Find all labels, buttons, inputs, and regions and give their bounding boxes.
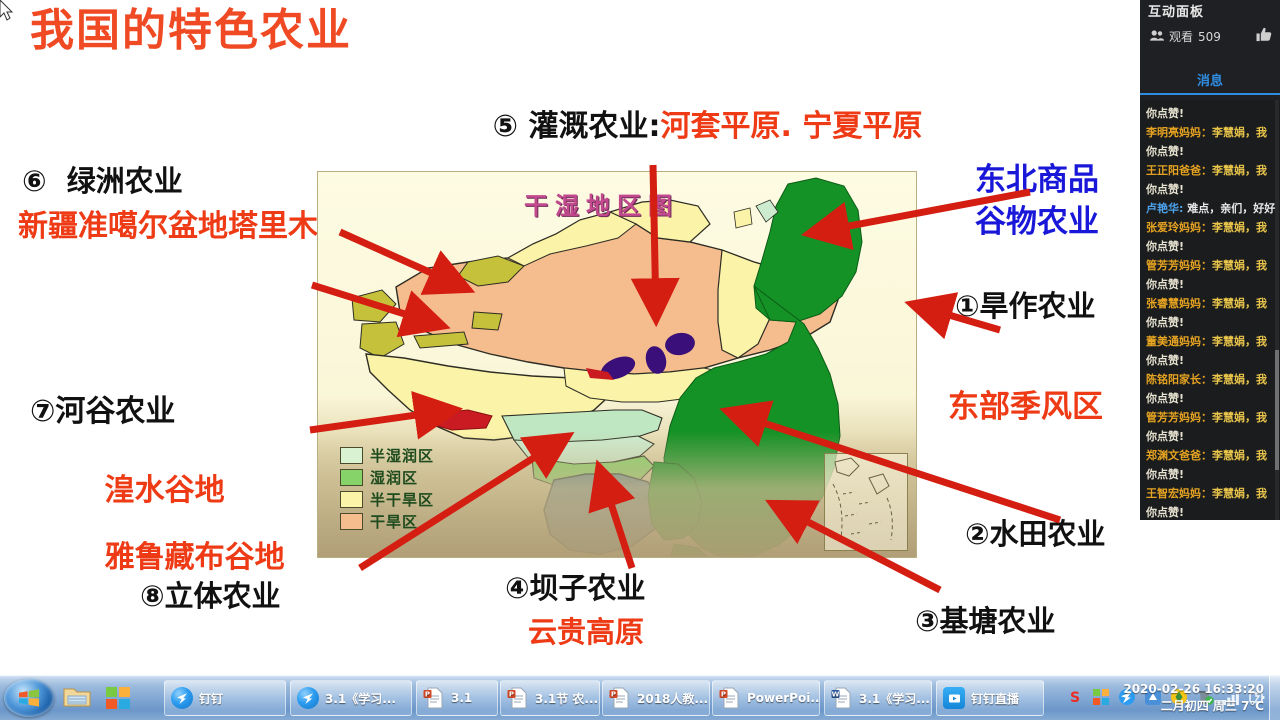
chat-message-sender: 王智宏妈妈： bbox=[1146, 487, 1212, 500]
annotation-dike-pond-agriculture: ③基塘农业 bbox=[915, 605, 1056, 637]
annotation-dry-farming: ①旱作农业 bbox=[955, 290, 1096, 322]
annotation-bazi-agriculture-body: 云贵高原 bbox=[528, 616, 644, 648]
taskbar-button-ppt-2[interactable]: P 3.1节 农... bbox=[500, 680, 600, 716]
taskbar-button-dingtalk[interactable]: 钉钉 bbox=[164, 680, 286, 716]
chat-like-notice: 你点赞! bbox=[1146, 465, 1280, 484]
chat-like-notice: 你点赞! bbox=[1146, 351, 1280, 370]
annotation-bazi-agriculture-head: ④坝子农业 bbox=[505, 572, 646, 604]
windows-start-icon[interactable] bbox=[4, 679, 54, 717]
svg-text:P: P bbox=[611, 691, 616, 699]
chat-message: 郑渊文爸爸：李慧娟，我 bbox=[1146, 446, 1280, 465]
taskbar-button-label: 3.1《学习... bbox=[325, 690, 396, 707]
panel-title: 互动面板 bbox=[1148, 1, 1204, 20]
live-interaction-panel: 互动面板 观看 509 消息 你点赞!李明亮妈妈：李慧娟，我你点赞!王正阳爸爸：… bbox=[1140, 0, 1280, 676]
map-inset-south-sea bbox=[824, 453, 908, 551]
china-dry-wet-regions-map: 干湿地区图 半湿润区 湿润区 半干旱区 干旱区 bbox=[318, 172, 916, 557]
chat-message-sender: 张睿慧妈妈： bbox=[1146, 297, 1212, 310]
annotation-east-monsoon-region: 东部季风区 bbox=[948, 390, 1103, 425]
chat-message-sender: 卢艳华: bbox=[1146, 202, 1183, 215]
chat-like-notice: 你点赞! bbox=[1146, 142, 1280, 161]
word-icon: W bbox=[831, 687, 853, 709]
annotation-7-body-line1: 湟水谷地 bbox=[105, 473, 225, 508]
taskbar-button-label: PowerPoi... bbox=[747, 691, 820, 705]
chat-message-sender: 王正阳爸爸： bbox=[1146, 164, 1212, 177]
map-title: 干湿地区图 bbox=[524, 186, 679, 221]
svg-text:S: S bbox=[1070, 690, 1080, 706]
legend-swatch-semi-humid bbox=[340, 447, 363, 464]
chat-like-notice: 你点赞! bbox=[1146, 389, 1280, 408]
chat-message-sender: 董美通妈妈： bbox=[1146, 335, 1212, 348]
chat-panel-bottom-area bbox=[1140, 520, 1280, 676]
chat-message-body: 李慧娟，我 bbox=[1212, 449, 1267, 462]
chat-message-body: 李慧娟，我 bbox=[1212, 126, 1267, 139]
taskbar-clock[interactable]: 2020-02-26 16:33:20 二月初四 周三 7℃ bbox=[1123, 681, 1264, 715]
taskbar-button-ppt-3[interactable]: P 2018人教... bbox=[602, 680, 710, 716]
svg-text:P: P bbox=[721, 691, 726, 699]
legend-label-humid: 湿润区 bbox=[370, 467, 418, 488]
svg-text:P: P bbox=[509, 691, 514, 699]
powerpoint-icon: P bbox=[507, 687, 529, 709]
chat-message-body: 李慧娟，我 bbox=[1212, 297, 1267, 310]
chat-like-notice: 你点赞! bbox=[1146, 275, 1280, 294]
powerpoint-icon: P bbox=[423, 687, 445, 709]
legend-swatch-humid bbox=[340, 469, 363, 486]
show-desktop-button[interactable] bbox=[1269, 676, 1280, 720]
screen: 我国的特色农业 ⑤ 灌溉农业:河套平原. 宁夏平原 . 河西走廊. ⑥ 绿洲农业… bbox=[0, 0, 1280, 720]
legend-label-semi-humid: 半湿润区 bbox=[370, 445, 434, 466]
legend-swatch-arid bbox=[340, 513, 363, 530]
chat-like-notice: 你点赞! bbox=[1146, 104, 1280, 123]
powerpoint-icon: P bbox=[719, 687, 741, 709]
legend-item: 干旱区 bbox=[340, 510, 434, 532]
dingtalk-icon bbox=[297, 687, 319, 709]
chat-message: 王正阳爸爸：李慧娟，我 bbox=[1146, 161, 1280, 180]
clock-date-time: 2020-02-26 16:33:20 bbox=[1123, 681, 1264, 698]
chat-message: 王智宏妈妈：李慧娟，我 bbox=[1146, 484, 1280, 503]
chat-message: 张爱玲妈妈：李慧娟，我 bbox=[1146, 218, 1280, 237]
chat-message-body: 难点，亲们，好好 bbox=[1183, 202, 1275, 215]
taskbar-button-ppt-1[interactable]: P 3.1 bbox=[416, 680, 498, 716]
annotation-valley-agriculture-head: ⑦河谷农业 bbox=[30, 395, 175, 429]
taskbar-button-study-dingtalk[interactable]: 3.1《学习... bbox=[290, 680, 412, 716]
sogou-input-icon[interactable]: S bbox=[1066, 688, 1084, 706]
chat-message: 管芳芳妈妈：李慧娟，我 bbox=[1146, 408, 1280, 427]
chat-message-body: 李慧娟，我 bbox=[1212, 335, 1267, 348]
folder-explorer-icon[interactable] bbox=[62, 684, 92, 712]
presentation-slide: 我国的特色农业 ⑤ 灌溉农业:河套平原. 宁夏平原 . 河西走廊. ⑥ 绿洲农业… bbox=[0, 0, 1280, 676]
svg-text:P: P bbox=[425, 691, 430, 699]
chat-message: 李明亮妈妈：李慧娟，我 bbox=[1146, 123, 1280, 142]
clock-lunar-weather: 二月初四 周三 7℃ bbox=[1123, 698, 1264, 715]
chat-scrollbar-thumb[interactable] bbox=[1275, 350, 1279, 470]
taskbar-button-word[interactable]: W 3.1《学习... bbox=[824, 680, 932, 716]
taskbar-button-label: 2018人教... bbox=[637, 690, 708, 707]
chat-message-sender: 李明亮妈妈： bbox=[1146, 126, 1212, 139]
windows-tiles-icon[interactable] bbox=[104, 684, 134, 712]
svg-text:W: W bbox=[832, 691, 840, 699]
chat-message-body: 李慧娟，我 bbox=[1212, 259, 1267, 272]
legend-item: 半湿润区 bbox=[340, 444, 434, 466]
windows-taskbar: 钉钉 3.1《学习... P 3.1 bbox=[0, 675, 1280, 720]
chat-like-notice: 你点赞! bbox=[1146, 237, 1280, 256]
mouse-cursor bbox=[0, 0, 12, 20]
chat-message-body: 李慧娟，我 bbox=[1212, 411, 1267, 424]
taskbar-button-label: 3.1《学习... bbox=[859, 690, 930, 707]
chat-like-notice: 你点赞! bbox=[1146, 180, 1280, 199]
annotation-northeast-commercial-grain: 东北商品 谷物农业 bbox=[975, 160, 1099, 244]
taskbar-button-powerpoint[interactable]: P PowerPoi... bbox=[712, 680, 820, 716]
legend-label-arid: 干旱区 bbox=[370, 511, 418, 532]
legend-item: 半干旱区 bbox=[340, 488, 434, 510]
chat-message-sender: 张爱玲妈妈： bbox=[1146, 221, 1212, 234]
annotation-7-body-line2: 雅鲁藏布谷地 bbox=[105, 540, 285, 575]
chat-message-list: 你点赞!李明亮妈妈：李慧娟，我你点赞!王正阳爸爸：李慧娟，我你点赞!卢艳华: 难… bbox=[1140, 100, 1280, 520]
legend-label-semi-arid: 半干旱区 bbox=[370, 489, 434, 510]
viewer-label: 观看 bbox=[1169, 28, 1193, 45]
annotation-5-label: ⑤ 灌溉农业: bbox=[493, 109, 661, 144]
dingtalk-live-icon bbox=[943, 687, 965, 709]
chat-message-sender: 管芳芳妈妈： bbox=[1146, 411, 1212, 424]
taskbar-button-label: 3.1节 农... bbox=[535, 690, 598, 707]
annotation-paddy-agriculture: ②水田农业 bbox=[965, 518, 1106, 550]
chat-message: 管芳芳妈妈：李慧娟，我 bbox=[1146, 256, 1280, 275]
chat-message-sender: 管芳芳妈妈： bbox=[1146, 259, 1212, 272]
annotation-5-value1: 河套平原. 宁夏平原 bbox=[661, 109, 923, 144]
thumbs-up-icon[interactable] bbox=[1256, 27, 1272, 46]
page-title: 我国的特色农业 bbox=[30, 6, 352, 55]
chat-message-sender: 陈铭阳家长： bbox=[1146, 373, 1212, 386]
dingtalk-icon bbox=[171, 687, 193, 709]
legend-swatch-semi-arid bbox=[340, 491, 363, 508]
legend-item: 湿润区 bbox=[340, 466, 434, 488]
chat-message: 陈铭阳家长：李慧娟，我 bbox=[1146, 370, 1280, 389]
chat-message-body: 李慧娟，我 bbox=[1212, 221, 1267, 234]
chat-message: 张睿慧妈妈：李慧娟，我 bbox=[1146, 294, 1280, 313]
chat-message-body: 李慧娟，我 bbox=[1212, 487, 1267, 500]
chat-scrollbar[interactable] bbox=[1275, 100, 1279, 520]
taskbar-button-label: 钉钉直播 bbox=[971, 690, 1019, 707]
windows-tiles-icon[interactable] bbox=[1092, 688, 1110, 706]
chat-like-notice: 你点赞! bbox=[1146, 427, 1280, 446]
map-legend: 半湿润区 湿润区 半干旱区 干旱区 bbox=[340, 444, 434, 532]
viewer-count: 509 bbox=[1198, 30, 1221, 44]
powerpoint-icon: P bbox=[609, 687, 631, 709]
chat-message-sender: 郑渊文爸爸： bbox=[1146, 449, 1212, 462]
viewer-count-group: 观看 509 bbox=[1150, 28, 1221, 45]
chat-like-notice: 你点赞! bbox=[1146, 313, 1280, 332]
annotation-oasis-agriculture-head: ⑥ 绿洲农业 bbox=[22, 165, 183, 197]
tab-messages[interactable]: 消息 bbox=[1140, 70, 1280, 89]
taskbar-button-label: 钉钉 bbox=[199, 690, 223, 707]
chat-message-body: 李慧娟，我 bbox=[1212, 164, 1267, 177]
people-icon bbox=[1150, 30, 1164, 44]
tab-active-underline bbox=[1140, 93, 1280, 95]
taskbar-button-dingtalk-live[interactable]: 钉钉直播 bbox=[936, 680, 1044, 716]
annotation-vertical-agriculture: ⑧立体农业 bbox=[140, 580, 281, 612]
taskbar-button-label: 3.1 bbox=[451, 691, 472, 705]
chat-message: 卢艳华: 难点，亲们，好好 bbox=[1146, 199, 1280, 218]
chat-message: 董美通妈妈：李慧娟，我 bbox=[1146, 332, 1280, 351]
chat-message-body: 李慧娟，我 bbox=[1212, 373, 1267, 386]
